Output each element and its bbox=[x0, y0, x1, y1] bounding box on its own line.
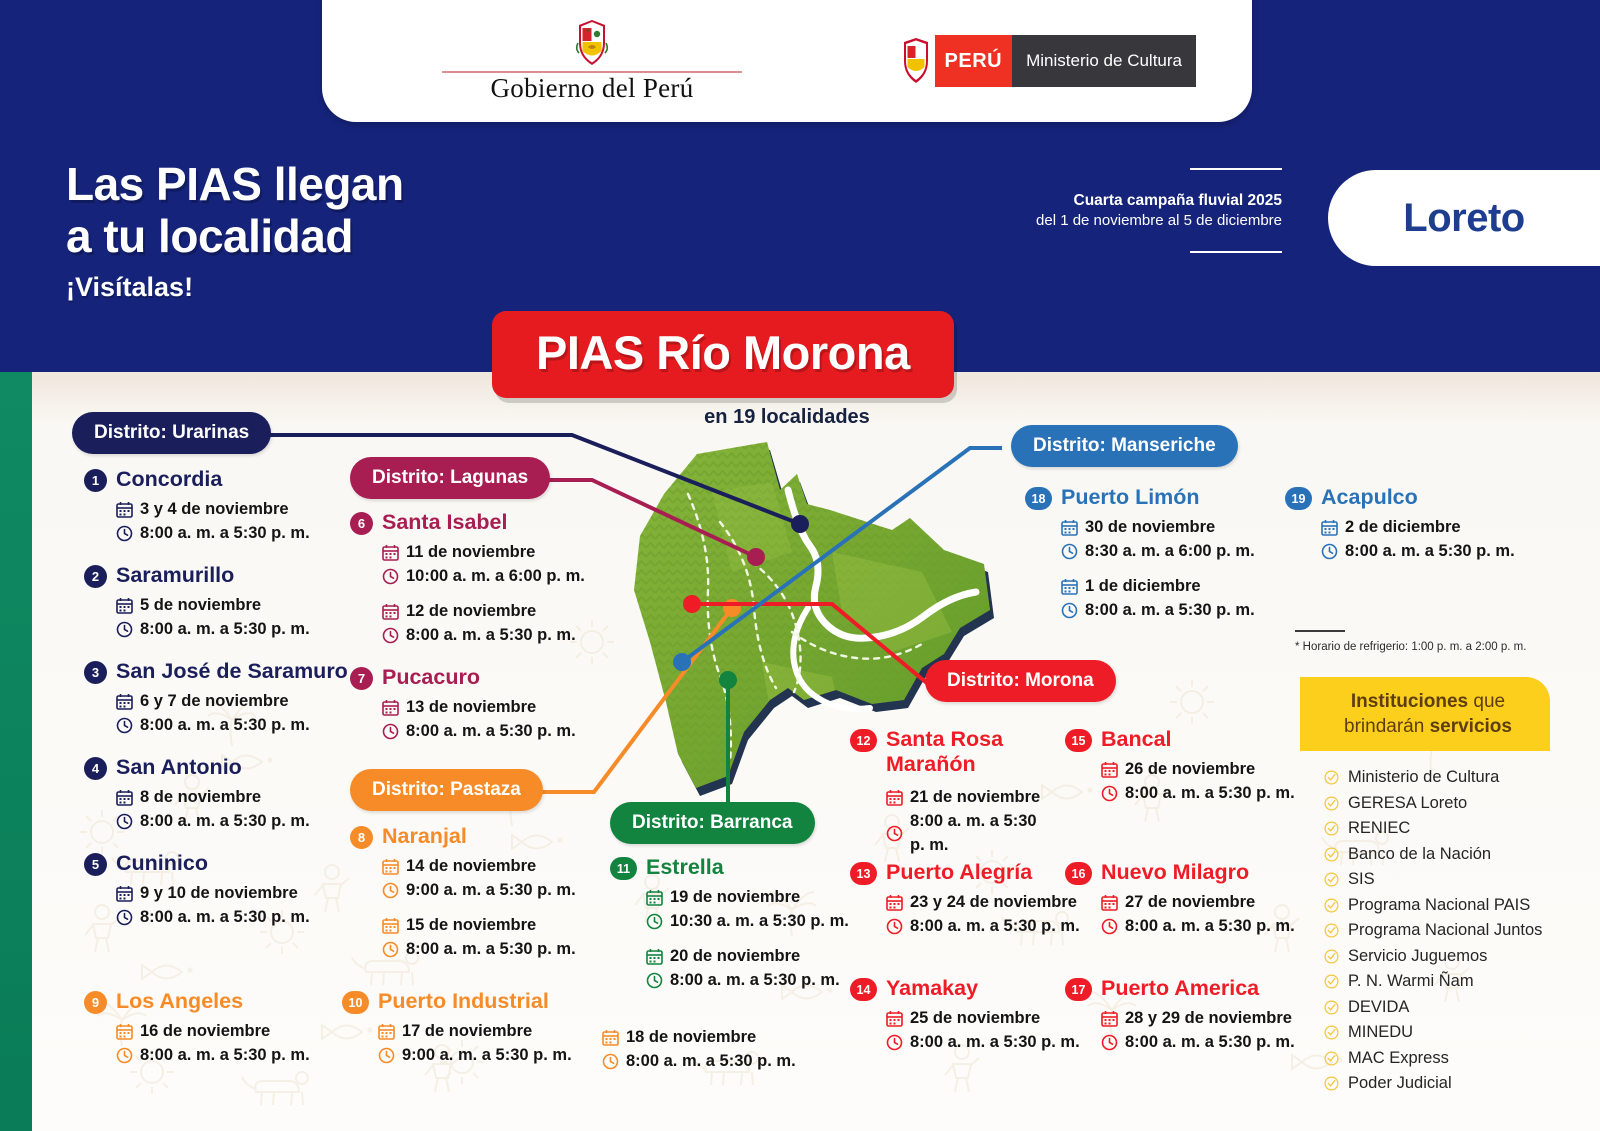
peru-coat-of-arms-icon bbox=[574, 19, 610, 67]
locality-name: Puerto America bbox=[1101, 976, 1259, 1001]
district-label: Distrito: Pastaza bbox=[372, 779, 521, 800]
locality-badge: 5 bbox=[84, 853, 107, 876]
schedule-date-row: 15 de noviembre bbox=[382, 913, 640, 937]
locality-name: Santa Isabel bbox=[382, 510, 507, 535]
schedule-time: 8:00 a. m. a 5:30 p. m. bbox=[1345, 539, 1515, 563]
institution-item: RENIEC bbox=[1324, 816, 1550, 842]
locality-name: Puerto Alegría bbox=[886, 860, 1032, 885]
locality-name: Los Angeles bbox=[116, 989, 243, 1014]
schedule-date: 19 de noviembre bbox=[670, 885, 800, 909]
locality-name: Yamakay bbox=[886, 976, 978, 1001]
clock-icon bbox=[382, 882, 399, 899]
schedule-date: 28 y 29 de noviembre bbox=[1125, 1006, 1292, 1030]
schedule-date-row: 13 de noviembre bbox=[382, 695, 640, 719]
calendar-icon bbox=[382, 858, 399, 875]
district-pill-barranca: Distrito: Barranca bbox=[610, 802, 815, 844]
clock-icon bbox=[886, 1034, 903, 1051]
locality-concordia: 1 Concordia 3 y 4 de noviembre 8:00 a. m… bbox=[84, 467, 384, 548]
schedule-time-row: 8:00 a. m. a 5:30 p. m. bbox=[1101, 781, 1305, 805]
schedule-time-row: 8:00 a. m. a 5:30 p. m. bbox=[382, 623, 640, 647]
schedule-date: 14 de noviembre bbox=[406, 854, 536, 878]
headline-line-2: a tu localidad bbox=[66, 210, 404, 262]
calendar-icon bbox=[646, 948, 663, 965]
schedule-time: 8:00 a. m. a 5:30 p. m. bbox=[140, 521, 310, 545]
schedule-time-row: 8:00 a. m. a 5:30 p. m. bbox=[1101, 914, 1305, 938]
schedule-date: 25 de noviembre bbox=[910, 1006, 1040, 1030]
campaign-dates: del 1 de noviembre al 5 de diciembre bbox=[1020, 212, 1282, 229]
schedule-date: 27 de noviembre bbox=[1125, 890, 1255, 914]
calendar-icon bbox=[378, 1023, 395, 1040]
calendar-icon bbox=[1061, 519, 1078, 536]
institution-item: DEVIDA bbox=[1324, 995, 1550, 1021]
clock-icon bbox=[886, 918, 903, 935]
calendar-icon bbox=[646, 889, 663, 906]
schedule-time-row: 8:00 a. m. a 5:30 p. m. bbox=[116, 617, 384, 641]
schedule-date-row: 12 de noviembre bbox=[382, 599, 640, 623]
locality-badge: 8 bbox=[350, 826, 373, 849]
locality-badge: 19 bbox=[1285, 487, 1312, 510]
calendar-icon bbox=[382, 917, 399, 934]
check-circle-icon bbox=[1324, 974, 1339, 989]
campaign-info: Cuarta campaña fluvial 2025 del 1 de nov… bbox=[1020, 168, 1282, 253]
schedule-date-row: 3 y 4 de noviembre bbox=[116, 497, 384, 521]
institution-name: GERESA Loreto bbox=[1348, 791, 1467, 817]
headline-line-1: Las PIAS llegan bbox=[66, 158, 404, 210]
schedule-date: 18 de noviembre bbox=[626, 1025, 756, 1049]
clock-icon bbox=[116, 717, 133, 734]
schedule-time-row: 8:00 a. m. a 5:30 p. m. bbox=[602, 1049, 862, 1073]
institution-name: SIS bbox=[1348, 867, 1375, 893]
calendar-icon bbox=[382, 544, 399, 561]
check-circle-icon bbox=[1324, 923, 1339, 938]
note-text: * Horario de refrigerio: 1:00 p. m. a 2:… bbox=[1295, 641, 1545, 653]
institution-item: Ministerio de Cultura bbox=[1324, 765, 1550, 791]
check-circle-icon bbox=[1324, 1051, 1339, 1066]
locality-acapulco: 19 Acapulco 2 de diciembre 8:00 a. m. a … bbox=[1285, 485, 1545, 566]
locality-name: Santa Rosa Marañón bbox=[886, 727, 1026, 777]
clock-icon bbox=[1101, 918, 1118, 935]
institutions-card: Instituciones que brindarán servicios Mi… bbox=[1300, 677, 1550, 1097]
schedule-time: 8:30 a. m. a 6:00 p. m. bbox=[1085, 539, 1255, 563]
schedule-time: 8:00 a. m. a 5:30 p. m. bbox=[140, 713, 310, 737]
locality-badge: 2 bbox=[84, 565, 107, 588]
locality-badge: 16 bbox=[1065, 862, 1092, 885]
institutions-header: Instituciones que brindarán servicios bbox=[1300, 677, 1550, 751]
locality-badge: 14 bbox=[850, 978, 877, 1001]
locality-badge: 18 bbox=[1025, 487, 1052, 510]
locality-pucacuro: 7 Pucacuro 13 de noviembre 8:00 a. m. a … bbox=[350, 665, 640, 746]
schedule-date-row: 11 de noviembre bbox=[382, 540, 640, 564]
institution-item: Banco de la Nación bbox=[1324, 842, 1550, 868]
district-pill-morona: Distrito: Morona bbox=[925, 660, 1116, 702]
schedule-time: 8:00 a. m. a 5:30 p. m. bbox=[670, 968, 840, 992]
locality-puerto-industrial: 10 Puerto Industrial 17 de noviembre 9:0… bbox=[342, 989, 642, 1070]
clock-icon bbox=[886, 825, 903, 842]
schedule-date: 12 de noviembre bbox=[406, 599, 536, 623]
locality-san-antonio: 4 San Antonio 8 de noviembre 8:00 a. m. … bbox=[84, 755, 384, 836]
ministerio-de-cultura-logo: PERÚ Ministerio de Cultura bbox=[897, 35, 1196, 87]
calendar-icon bbox=[1101, 1010, 1118, 1027]
note-rule bbox=[1295, 630, 1345, 632]
headline-block: Las PIAS llegan a tu localidad ¡Visítala… bbox=[66, 158, 404, 303]
calendar-icon bbox=[116, 1023, 133, 1040]
schedule-date-row: 9 y 10 de noviembre bbox=[116, 881, 384, 905]
locality-puerto-limon: 18 Puerto Limón 30 de noviembre 8:30 a. … bbox=[1025, 485, 1305, 625]
locality-badge: 9 bbox=[84, 991, 107, 1014]
schedule-date: 1 de diciembre bbox=[1085, 574, 1201, 598]
locality-name: Naranjal bbox=[382, 824, 467, 849]
institution-name: Ministerio de Cultura bbox=[1348, 765, 1499, 791]
clock-icon bbox=[382, 941, 399, 958]
institution-name: DEVIDA bbox=[1348, 995, 1409, 1021]
locality-name: Estrella bbox=[646, 855, 724, 880]
clock-icon bbox=[646, 972, 663, 989]
check-circle-icon bbox=[1324, 949, 1339, 964]
locality-badge: 6 bbox=[350, 512, 373, 535]
calendar-icon bbox=[1061, 578, 1078, 595]
schedule-time-row: 8:00 a. m. a 5:30 p. m. bbox=[116, 809, 384, 833]
schedule-date-row: 8 de noviembre bbox=[116, 785, 384, 809]
schedule-time: 8:00 a. m. a 5:30 p. m. bbox=[1125, 781, 1295, 805]
schedule-date: 8 de noviembre bbox=[140, 785, 261, 809]
locality-name: Cuninico bbox=[116, 851, 208, 876]
check-circle-icon bbox=[1324, 872, 1339, 887]
clock-icon bbox=[116, 621, 133, 638]
locality-badge: 4 bbox=[84, 757, 107, 780]
calendar-icon bbox=[116, 693, 133, 710]
schedule-time: 8:00 a. m. a 5:30 p. m. bbox=[1125, 914, 1295, 938]
institution-name: MAC Express bbox=[1348, 1046, 1449, 1072]
clock-icon bbox=[116, 1047, 133, 1064]
district-label: Distrito: Morona bbox=[947, 670, 1094, 691]
locality-name: Acapulco bbox=[1321, 485, 1418, 510]
locality-badge: 11 bbox=[610, 857, 637, 880]
schedule-time: 8:00 a. m. a 5:30 p. m. bbox=[140, 905, 310, 929]
locality-bancal: 15 Bancal 26 de noviembre 8:00 a. m. a 5… bbox=[1065, 727, 1305, 808]
campaign-rule-top bbox=[1190, 168, 1282, 170]
institution-item: P. N. Warmi Ñam bbox=[1324, 969, 1550, 995]
body-area: Distrito: Urarinas Distrito: Lagunas Dis… bbox=[32, 372, 1600, 1131]
locality-badge: 3 bbox=[84, 661, 107, 684]
schedule-date: 2 de diciembre bbox=[1345, 515, 1461, 539]
schedule-time: 8:00 a. m. a 5:30 p. m. bbox=[140, 1043, 310, 1067]
schedule-date: 11 de noviembre bbox=[406, 540, 535, 564]
campaign-rule-bottom bbox=[1190, 251, 1282, 253]
schedule-date-row: 26 de noviembre bbox=[1101, 757, 1305, 781]
schedule-date: 21 de noviembre bbox=[910, 785, 1040, 809]
institution-name: Poder Judicial bbox=[1348, 1071, 1452, 1097]
institution-name: Programa Nacional Juntos bbox=[1348, 918, 1542, 944]
schedule-time: 8:00 a. m. a 5:30 p. m. bbox=[406, 719, 576, 743]
calendar-icon bbox=[382, 699, 399, 716]
check-circle-icon bbox=[1324, 847, 1339, 862]
check-circle-icon bbox=[1324, 770, 1339, 785]
institution-name: RENIEC bbox=[1348, 816, 1410, 842]
schedule-time: 8:00 a. m. a 5:30 p. m. bbox=[140, 809, 310, 833]
locality-name: Puerto Industrial bbox=[378, 989, 549, 1014]
schedule-time-row: 8:00 a. m. a 5:30 p. m. bbox=[1101, 1030, 1325, 1054]
calendar-icon bbox=[382, 603, 399, 620]
clock-icon bbox=[116, 909, 133, 926]
institution-name: Banco de la Nación bbox=[1348, 842, 1491, 868]
logo-divider-line bbox=[442, 71, 742, 73]
locality-naranjal: 8 Naranjal 14 de noviembre 9:00 a. m. a … bbox=[350, 824, 640, 964]
institution-item: Programa Nacional PAIS bbox=[1324, 893, 1550, 919]
check-circle-icon bbox=[1324, 821, 1339, 836]
schedule-time: 8:00 a. m. a 5:30 p. m. bbox=[910, 914, 1080, 938]
schedule-date-row: 5 de noviembre bbox=[116, 593, 384, 617]
schedule-date-row: 28 y 29 de noviembre bbox=[1101, 1006, 1325, 1030]
calendar-icon bbox=[886, 894, 903, 911]
clock-icon bbox=[116, 525, 133, 542]
schedule-date: 3 y 4 de noviembre bbox=[140, 497, 289, 521]
schedule-time-row: 10:00 a. m. a 6:00 p. m. bbox=[382, 564, 640, 588]
institution-name: Programa Nacional PAIS bbox=[1348, 893, 1530, 919]
schedule-time-row: 9:00 a. m. a 5:30 p. m. bbox=[382, 878, 640, 902]
schedule-time: 9:00 a. m. a 5:30 p. m. bbox=[402, 1043, 572, 1067]
schedule-date: 23 y 24 de noviembre bbox=[910, 890, 1077, 914]
calendar-icon bbox=[116, 789, 133, 806]
locality-badge: 17 bbox=[1065, 978, 1092, 1001]
clock-icon bbox=[382, 627, 399, 644]
locality-name: Pucacuro bbox=[382, 665, 480, 690]
schedule-date: 5 de noviembre bbox=[140, 593, 261, 617]
check-circle-icon bbox=[1324, 1000, 1339, 1015]
clock-icon bbox=[1321, 543, 1338, 560]
institution-item: GERESA Loreto bbox=[1324, 791, 1550, 817]
schedule-date-row: 1 de diciembre bbox=[1061, 574, 1305, 598]
locality-badge: 15 bbox=[1065, 729, 1092, 752]
institutions-title-bold-1: Instituciones bbox=[1351, 691, 1468, 712]
locality-name: San José de Saramuro bbox=[116, 659, 348, 684]
schedule-time-row: 8:00 a. m. a 5:30 p. m. bbox=[1321, 539, 1545, 563]
district-label: Distrito: Urarinas bbox=[94, 422, 249, 443]
pias-subtitle: en 19 localidades bbox=[492, 406, 1082, 429]
peru-label: PERÚ bbox=[935, 35, 1013, 87]
check-circle-icon bbox=[1324, 898, 1339, 913]
clock-icon bbox=[382, 723, 399, 740]
locality-puerto-america: 17 Puerto America 28 y 29 de noviembre 8… bbox=[1065, 976, 1325, 1057]
gobierno-label: Gobierno del Perú bbox=[490, 73, 693, 104]
district-label: Distrito: Barranca bbox=[632, 812, 793, 833]
clock-icon bbox=[378, 1047, 395, 1064]
schedule-time: 8:00 a. m. a 5:30 p. m. bbox=[406, 623, 576, 647]
calendar-icon bbox=[886, 789, 903, 806]
calendar-icon bbox=[116, 501, 133, 518]
schedule-time-row: 8:00 a. m. a 5:30 p. m. bbox=[382, 937, 640, 961]
schedule-time: 10:30 a. m. a 5:30 p. m. bbox=[670, 909, 849, 933]
institution-item: MAC Express bbox=[1324, 1046, 1550, 1072]
clock-icon bbox=[1061, 602, 1078, 619]
district-pill-urarinas: Distrito: Urarinas bbox=[72, 412, 271, 454]
schedule-time: 8:00 a. m. a 5:30 p. m. bbox=[140, 617, 310, 641]
region-label: Loreto bbox=[1403, 196, 1524, 241]
locality-santa-isabel: 6 Santa Isabel 11 de noviembre 10:00 a. … bbox=[350, 510, 640, 650]
schedule-time-row: 8:00 a. m. a 5:30 p. m. bbox=[116, 905, 384, 929]
institution-name: Servicio Juguemos bbox=[1348, 944, 1487, 970]
calendar-icon bbox=[602, 1029, 619, 1046]
clock-icon bbox=[602, 1053, 619, 1070]
clock-icon bbox=[382, 568, 399, 585]
institutions-title-bold-2: servicios bbox=[1430, 716, 1512, 737]
schedule-date-row: 20 de noviembre bbox=[646, 944, 900, 968]
locality-puerto-industrial-extra-schedule: 18 de noviembre 8:00 a. m. a 5:30 p. m. bbox=[602, 1020, 862, 1076]
headline-cta: ¡Visítalas! bbox=[66, 272, 404, 303]
locality-name: Nuevo Milagro bbox=[1101, 860, 1249, 885]
refreshment-note: * Horario de refrigerio: 1:00 p. m. a 2:… bbox=[1295, 630, 1545, 653]
check-circle-icon bbox=[1324, 1076, 1339, 1091]
institution-item: MINEDU bbox=[1324, 1020, 1550, 1046]
clock-icon bbox=[1101, 785, 1118, 802]
region-tab-loreto: Loreto bbox=[1328, 170, 1600, 266]
clock-icon bbox=[646, 913, 663, 930]
institutions-title-plain-1: que bbox=[1468, 691, 1505, 712]
institution-name: P. N. Warmi Ñam bbox=[1348, 969, 1474, 995]
schedule-time-row: 8:00 a. m. a 5:30 p. m. bbox=[1061, 598, 1305, 622]
locality-los-angeles: 9 Los Angeles 16 de noviembre 8:00 a. m.… bbox=[84, 989, 384, 1070]
campaign-title: Cuarta campaña fluvial 2025 bbox=[1020, 192, 1282, 210]
schedule-date-row: 2 de diciembre bbox=[1321, 515, 1545, 539]
peru-shield-icon bbox=[897, 35, 935, 87]
calendar-icon bbox=[1321, 519, 1338, 536]
schedule-date: 6 y 7 de noviembre bbox=[140, 689, 289, 713]
schedule-date: 9 y 10 de noviembre bbox=[140, 881, 298, 905]
locality-cuninico: 5 Cuninico 9 y 10 de noviembre 8:00 a. m… bbox=[84, 851, 384, 932]
institutions-list: Ministerio de Cultura GERESA Loreto RENI… bbox=[1300, 765, 1550, 1097]
locality-nuevo-milagro: 16 Nuevo Milagro 27 de noviembre 8:00 a.… bbox=[1065, 860, 1305, 941]
locality-saramurillo: 2 Saramurillo 5 de noviembre 8:00 a. m. … bbox=[84, 563, 384, 644]
schedule-date: 17 de noviembre bbox=[402, 1019, 532, 1043]
schedule-date: 15 de noviembre bbox=[406, 913, 536, 937]
schedule-date: 30 de noviembre bbox=[1085, 515, 1215, 539]
schedule-time: 9:00 a. m. a 5:30 p. m. bbox=[406, 878, 576, 902]
schedule-time: 8:00 a. m. a 5:30 p. m. bbox=[406, 937, 576, 961]
clock-icon bbox=[1101, 1034, 1118, 1051]
schedule-date: 13 de noviembre bbox=[406, 695, 536, 719]
schedule-date: 20 de noviembre bbox=[670, 944, 800, 968]
side-accent-stripe bbox=[0, 372, 32, 1131]
clock-icon bbox=[1061, 543, 1078, 560]
calendar-icon bbox=[1101, 894, 1118, 911]
check-circle-icon bbox=[1324, 1025, 1339, 1040]
ministerio-label: Ministerio de Cultura bbox=[1012, 35, 1196, 87]
calendar-icon bbox=[886, 1010, 903, 1027]
schedule-time: 8:00 a. m. a 5:30 p. m. bbox=[626, 1049, 796, 1073]
schedule-date-row: 14 de noviembre bbox=[382, 854, 640, 878]
infographic-page: Gobierno del Perú PERÚ Ministerio de Cul… bbox=[0, 0, 1600, 1131]
schedule-date-row: 27 de noviembre bbox=[1101, 890, 1305, 914]
gobierno-del-peru-logo: Gobierno del Perú bbox=[442, 19, 742, 104]
calendar-icon bbox=[116, 597, 133, 614]
schedule-date-row: 21 de noviembre bbox=[886, 785, 1050, 809]
locality-badge: 1 bbox=[84, 469, 107, 492]
institution-item: Poder Judicial bbox=[1324, 1071, 1550, 1097]
locality-name: Bancal bbox=[1101, 727, 1172, 752]
locality-badge: 10 bbox=[342, 991, 369, 1014]
schedule-time-row: 8:00 a. m. a 5:30 p. m. bbox=[116, 521, 384, 545]
locality-name: Saramurillo bbox=[116, 563, 234, 588]
institution-item: SIS bbox=[1324, 867, 1550, 893]
clock-icon bbox=[116, 813, 133, 830]
schedule-time-row: 8:00 a. m. a 5:30 p. m. bbox=[886, 809, 1050, 857]
calendar-icon bbox=[1101, 761, 1118, 778]
schedule-date: 16 de noviembre bbox=[140, 1019, 270, 1043]
institution-item: Programa Nacional Juntos bbox=[1324, 918, 1550, 944]
schedule-date-row: 30 de noviembre bbox=[1061, 515, 1305, 539]
locality-badge: 7 bbox=[350, 667, 373, 690]
schedule-time: 8:00 a. m. a 5:30 p. m. bbox=[1085, 598, 1255, 622]
schedule-date-row: 18 de noviembre bbox=[602, 1025, 862, 1049]
calendar-icon bbox=[116, 885, 133, 902]
schedule-date: 26 de noviembre bbox=[1125, 757, 1255, 781]
pias-title-banner: PIAS Río Morona bbox=[492, 311, 954, 398]
institution-name: MINEDU bbox=[1348, 1020, 1413, 1046]
locality-badge: 12 bbox=[850, 729, 877, 752]
check-circle-icon bbox=[1324, 796, 1339, 811]
institution-item: Servicio Juguemos bbox=[1324, 944, 1550, 970]
locality-name: Concordia bbox=[116, 467, 222, 492]
locality-badge: 13 bbox=[850, 862, 877, 885]
locality-name: Puerto Limón bbox=[1061, 485, 1200, 510]
district-label: Distrito: Lagunas bbox=[372, 467, 528, 488]
locality-name: San Antonio bbox=[116, 755, 242, 780]
schedule-time: 10:00 a. m. a 6:00 p. m. bbox=[406, 564, 585, 588]
schedule-time-row: 8:30 a. m. a 6:00 p. m. bbox=[1061, 539, 1305, 563]
government-logo-plate: Gobierno del Perú PERÚ Ministerio de Cul… bbox=[322, 0, 1252, 122]
locality-santa-rosa-maranon: 12 Santa Rosa Marañón 21 de noviembre 8:… bbox=[850, 727, 1050, 860]
schedule-time: 8:00 a. m. a 5:30 p. m. bbox=[910, 1030, 1080, 1054]
district-pill-manseriche: Distrito: Manseriche bbox=[1011, 425, 1238, 467]
schedule-time: 8:00 a. m. a 5:30 p. m. bbox=[910, 809, 1050, 857]
schedule-time-row: 8:00 a. m. a 5:30 p. m. bbox=[382, 719, 640, 743]
district-label: Distrito: Manseriche bbox=[1033, 435, 1216, 456]
schedule-time: 8:00 a. m. a 5:30 p. m. bbox=[1125, 1030, 1295, 1054]
institutions-title-plain-2: brindarán bbox=[1344, 716, 1430, 737]
pias-title: PIAS Río Morona bbox=[536, 326, 910, 379]
